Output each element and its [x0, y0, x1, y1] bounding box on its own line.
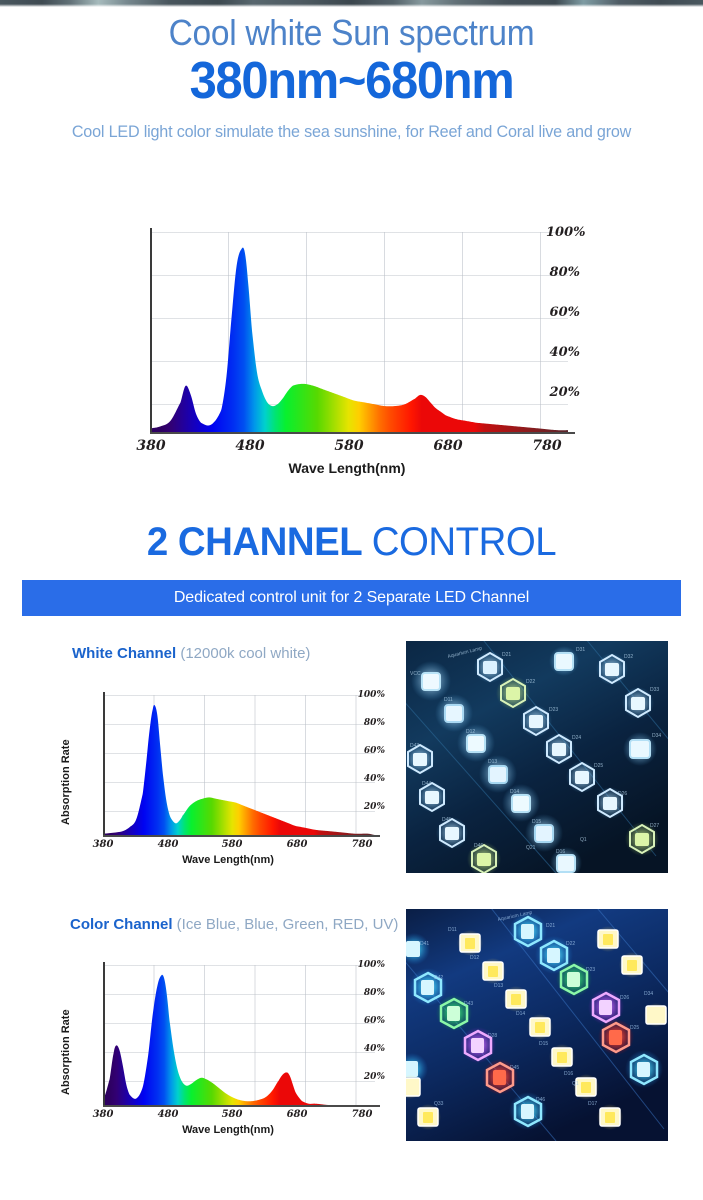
color-ytick-40: 40%: [341, 1044, 385, 1054]
color-channel-note: (Ice Blue, Blue, Green, RED, UV): [173, 916, 399, 933]
main-xaxis-label: Wave Length(nm): [132, 460, 562, 476]
color-ytick-60: 60%: [341, 1016, 385, 1026]
color-channel-photo: Aquarium Lamp D11D12 D13D14 D15D16 D17 D…: [406, 909, 668, 1141]
white-yaxis-label: Absorption Rate: [60, 739, 72, 825]
white-channel-photo: Aquarium Lamp VCC D11D12 D13D14 D15D16 D…: [406, 641, 668, 873]
svg-text:D32: D32: [624, 654, 633, 660]
main-ytick-100: 100%: [546, 225, 580, 240]
svg-text:D45: D45: [510, 1065, 519, 1071]
white-channel-plot-area: [103, 695, 375, 835]
white-x-axis: [103, 835, 380, 837]
color-yaxis-label: Absorption Rate: [60, 1009, 72, 1095]
color-channel-label: Color Channel (Ice Blue, Blue, Green, RE…: [70, 916, 398, 933]
section-banner-text: Dedicated control unit for 2 Separate LE…: [174, 589, 529, 607]
svg-text:D21: D21: [502, 652, 511, 658]
color-channel-chart: 100% 80% 60% 40% 20% 380 480 580 680 780…: [55, 962, 385, 1137]
section-heading-light: CONTROL: [372, 520, 556, 564]
color-xtick-780: 780: [346, 1109, 378, 1120]
page-title: Cool white Sun spectrum: [25, 14, 679, 52]
color-xtick-680: 680: [281, 1109, 313, 1120]
svg-text:D27: D27: [650, 823, 659, 829]
svg-text:D17: D17: [588, 1101, 597, 1107]
svg-text:D46: D46: [474, 843, 483, 849]
section-heading: 2 CHANNEL CONTROL: [14, 520, 689, 565]
main-ytick-40: 40%: [546, 345, 580, 360]
svg-text:D46: D46: [536, 1097, 545, 1103]
white-ytick-100: 100%: [341, 690, 385, 700]
svg-text:D26: D26: [618, 791, 627, 797]
svg-text:D42: D42: [434, 975, 443, 981]
main-x-axis: [150, 432, 575, 434]
svg-text:Q1: Q1: [572, 1081, 579, 1087]
svg-text:D12: D12: [466, 729, 475, 735]
white-led-board-image: Aquarium Lamp VCC D11D12 D13D14 D15D16 D…: [406, 641, 668, 873]
top-bleed-strip: [0, 0, 703, 7]
svg-text:D22: D22: [526, 679, 535, 685]
svg-text:D45: D45: [442, 817, 451, 823]
svg-text:D33: D33: [650, 687, 659, 693]
svg-text:Q21: Q21: [526, 845, 536, 851]
svg-text:D11: D11: [444, 697, 453, 703]
white-xtick-680: 680: [281, 839, 313, 850]
color-channel-name: Color Channel: [70, 916, 173, 933]
svg-text:D25: D25: [594, 763, 603, 769]
svg-text:D16: D16: [564, 1071, 573, 1077]
main-ytick-60: 60%: [546, 305, 580, 320]
svg-text:D14: D14: [510, 789, 519, 795]
svg-text:D26: D26: [620, 995, 629, 1001]
main-ytick-80: 80%: [546, 265, 580, 280]
white-xtick-480: 480: [152, 839, 184, 850]
main-xtick-580: 580: [328, 438, 370, 454]
hero-block: Cool white Sun spectrum 380nm~680nm Cool…: [0, 14, 703, 142]
color-channel-curve: [103, 965, 375, 1105]
main-spectrum-chart: 100% 80% 60% 40% 20% 380 480 580 680 780…: [110, 228, 580, 478]
color-ytick-20: 20%: [341, 1072, 385, 1082]
section-banner: Dedicated control unit for 2 Separate LE…: [22, 580, 681, 616]
svg-text:Q33: Q33: [434, 1101, 444, 1107]
svg-text:Q1: Q1: [580, 837, 587, 843]
main-xtick-480: 480: [229, 438, 271, 454]
svg-text:D13: D13: [488, 759, 497, 765]
white-channel-label: White Channel (12000k cool white): [72, 645, 310, 662]
white-channel-note: (12000k cool white): [176, 645, 310, 662]
color-channel-plot-area: [103, 965, 375, 1105]
color-xaxis-label: Wave Length(nm): [83, 1124, 373, 1136]
color-xtick-480: 480: [152, 1109, 184, 1120]
white-y-axis: [103, 692, 105, 837]
svg-text:D12: D12: [470, 955, 479, 961]
color-led-board-image: Aquarium Lamp D11D12 D13D14 D15D16 D17 D…: [406, 909, 668, 1141]
product-detail-page: Cool white Sun spectrum 380nm~680nm Cool…: [0, 0, 703, 1200]
svg-text:D34: D34: [652, 733, 661, 739]
svg-text:D41: D41: [420, 941, 429, 947]
color-ytick-80: 80%: [341, 988, 385, 998]
white-xtick-580: 580: [216, 839, 248, 850]
white-xtick-380: 380: [87, 839, 119, 850]
svg-text:D24: D24: [572, 735, 581, 741]
hero-subtitle: Cool LED light color simulate the sea su…: [18, 122, 686, 142]
main-spectrum-plot-area: [150, 232, 568, 432]
svg-text:D23: D23: [549, 707, 558, 713]
main-xtick-780: 780: [526, 438, 568, 454]
main-y-axis: [150, 228, 152, 434]
white-ytick-20: 20%: [341, 802, 385, 812]
svg-text:D21: D21: [546, 923, 555, 929]
color-xtick-580: 580: [216, 1109, 248, 1120]
white-ytick-40: 40%: [341, 774, 385, 784]
svg-text:D14: D14: [516, 1011, 525, 1017]
main-spectrum-curve: [150, 232, 568, 432]
svg-text:D44: D44: [422, 781, 431, 787]
svg-text:D16: D16: [556, 849, 565, 855]
white-channel-chart: 100% 80% 60% 40% 20% 380 480 580 680 780…: [55, 692, 385, 862]
svg-text:D25: D25: [630, 1025, 639, 1031]
svg-text:D34: D34: [644, 991, 653, 997]
svg-text:D31: D31: [576, 647, 585, 653]
white-xtick-780: 780: [346, 839, 378, 850]
svg-text:D43: D43: [464, 1001, 473, 1007]
svg-text:D23: D23: [586, 967, 595, 973]
spectrum-range: 380nm~680nm: [21, 54, 682, 109]
svg-text:D15: D15: [532, 819, 541, 825]
svg-text:D13: D13: [494, 983, 503, 989]
color-xtick-380: 380: [87, 1109, 119, 1120]
main-xtick-380: 380: [130, 438, 172, 454]
main-xtick-680: 680: [427, 438, 469, 454]
section-heading-strong: 2 CHANNEL: [147, 520, 372, 564]
white-ytick-60: 60%: [341, 746, 385, 756]
svg-text:D11: D11: [448, 927, 457, 933]
main-ytick-20: 20%: [546, 385, 580, 400]
white-ytick-80: 80%: [341, 718, 385, 728]
white-xaxis-label: Wave Length(nm): [83, 854, 373, 866]
white-channel-curve: [103, 695, 375, 835]
svg-text:D43: D43: [410, 743, 419, 749]
color-x-axis: [103, 1105, 380, 1107]
color-y-axis: [103, 962, 105, 1107]
white-channel-name: White Channel: [72, 645, 176, 662]
color-ytick-100: 100%: [341, 960, 385, 970]
svg-text:D28: D28: [488, 1033, 497, 1039]
svg-text:VCC: VCC: [410, 671, 421, 677]
svg-text:D22: D22: [566, 941, 575, 947]
svg-text:D15: D15: [539, 1041, 548, 1047]
